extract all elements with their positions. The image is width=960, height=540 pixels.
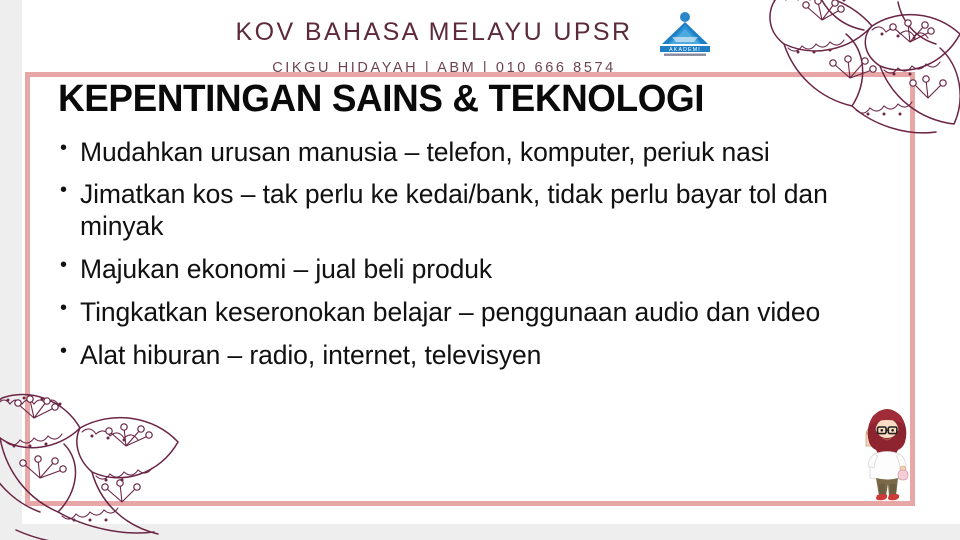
slide-header: KOV BAHASA MELAYU UPSR AKADEMI CIKGU HID… xyxy=(0,8,960,66)
slide-canvas: KOV BAHASA MELAYU UPSR AKADEMI CIKGU HID… xyxy=(0,0,960,540)
bullet-list: Mudahkan urusan manusia – telefon, kompu… xyxy=(58,137,908,372)
svg-text:AKADEMI: AKADEMI xyxy=(670,47,702,53)
list-item: Tingkatkan keseronokan belajar – penggun… xyxy=(58,297,908,329)
brand-title: KOV BAHASA MELAYU UPSR xyxy=(236,18,633,47)
atm-akademi-logo: AKADEMI xyxy=(646,10,724,58)
page-margin-bottom xyxy=(0,524,960,540)
hijab-girl-illustration xyxy=(853,398,921,508)
list-item: Mudahkan urusan manusia – telefon, kompu… xyxy=(58,137,908,169)
page-title: KEPENTINGAN SAINS & TEKNOLOGI xyxy=(58,78,883,121)
brand-title-row: KOV BAHASA MELAYU UPSR AKADEMI xyxy=(0,8,960,56)
list-item: Majukan ekonomi – jual beli produk xyxy=(58,254,908,286)
page-margin-left xyxy=(0,0,22,540)
list-item: Jimatkan kos – tak perlu ke kedai/bank, … xyxy=(58,179,908,243)
slide-content: KEPENTINGAN SAINS & TEKNOLOGI Mudahkan u… xyxy=(58,78,908,387)
list-item: Alat hiburan – radio, internet, televisy… xyxy=(58,340,908,372)
